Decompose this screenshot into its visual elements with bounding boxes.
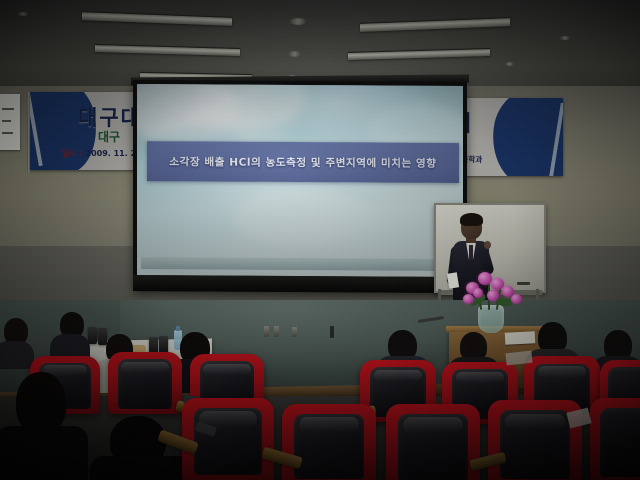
auditorium-seat[interactable] xyxy=(108,352,182,414)
table-can xyxy=(159,336,168,353)
screen-bottom-bar xyxy=(133,275,467,293)
presenter-papers xyxy=(447,272,459,288)
seat-highlight xyxy=(374,370,423,381)
auditorium-seat[interactable] xyxy=(282,404,376,480)
audience-person xyxy=(52,312,88,360)
audience-head xyxy=(16,372,66,434)
ceiling-speaker-icon xyxy=(505,62,514,66)
banner-date-label: 일시 : xyxy=(62,149,83,158)
whiteboard-marker xyxy=(517,282,530,285)
ceiling-downlight-icon xyxy=(290,18,306,25)
seat-cushion xyxy=(600,408,640,477)
projected-slide: 소각장 배출 HCl의 농도측정 및 주변지역에 미치는 영향 xyxy=(137,84,463,277)
stage-small-object xyxy=(274,326,279,337)
orchid-bloom xyxy=(473,288,483,298)
slide-bottom-edge xyxy=(141,257,459,271)
stage-small-object xyxy=(330,326,334,338)
seat-highlight xyxy=(505,414,565,429)
projection-screen: 소각장 배출 HCl의 농도측정 및 주변지역에 미치는 영향 xyxy=(133,80,467,293)
stage-small-object xyxy=(292,327,297,337)
banner-left-subheading: 대구 xyxy=(98,128,120,145)
orchid-bloom xyxy=(478,272,492,285)
slide-title-text: 소각장 배출 HCl의 농도측정 및 주변지역에 미치는 영향 xyxy=(169,154,436,171)
seat-highlight xyxy=(538,366,587,378)
stage-small-object xyxy=(264,326,269,337)
audience-shoulders xyxy=(90,456,194,480)
seat-highlight xyxy=(121,362,168,373)
audience-person-foreground xyxy=(96,416,186,480)
auditorium-seat[interactable] xyxy=(182,398,274,480)
audience-person-foreground xyxy=(4,372,80,480)
seat-highlight xyxy=(203,364,250,375)
orchid-bloom xyxy=(511,294,522,304)
slide-cloud-shape xyxy=(137,204,233,259)
slide-title-band: 소각장 배출 HCl의 농도측정 및 주변지역에 미치는 영향 xyxy=(147,141,459,183)
wall-notice-sign xyxy=(0,94,20,150)
ceiling-speaker-icon xyxy=(18,12,28,16)
conference-photo: 대구대 대구 일시 : 2009. 11. 20(금) 발표회 발표회 : 대구… xyxy=(0,0,640,480)
orchid-bloom xyxy=(463,294,474,304)
presenter-hand xyxy=(484,241,491,249)
audience-shoulders xyxy=(0,426,88,480)
audience-shoulders xyxy=(0,341,34,369)
ceiling-downlight-icon xyxy=(288,51,301,57)
seat-highlight xyxy=(403,417,463,432)
ceiling-speaker-icon xyxy=(560,36,570,40)
auditorium-seat[interactable] xyxy=(386,404,480,480)
orchid-bloom xyxy=(487,290,499,301)
seat-highlight xyxy=(456,372,505,383)
seat-highlight xyxy=(299,417,359,432)
presenter-necktie xyxy=(469,245,473,260)
presenter-hair xyxy=(460,213,483,226)
auditorium-seat[interactable] xyxy=(590,398,640,480)
